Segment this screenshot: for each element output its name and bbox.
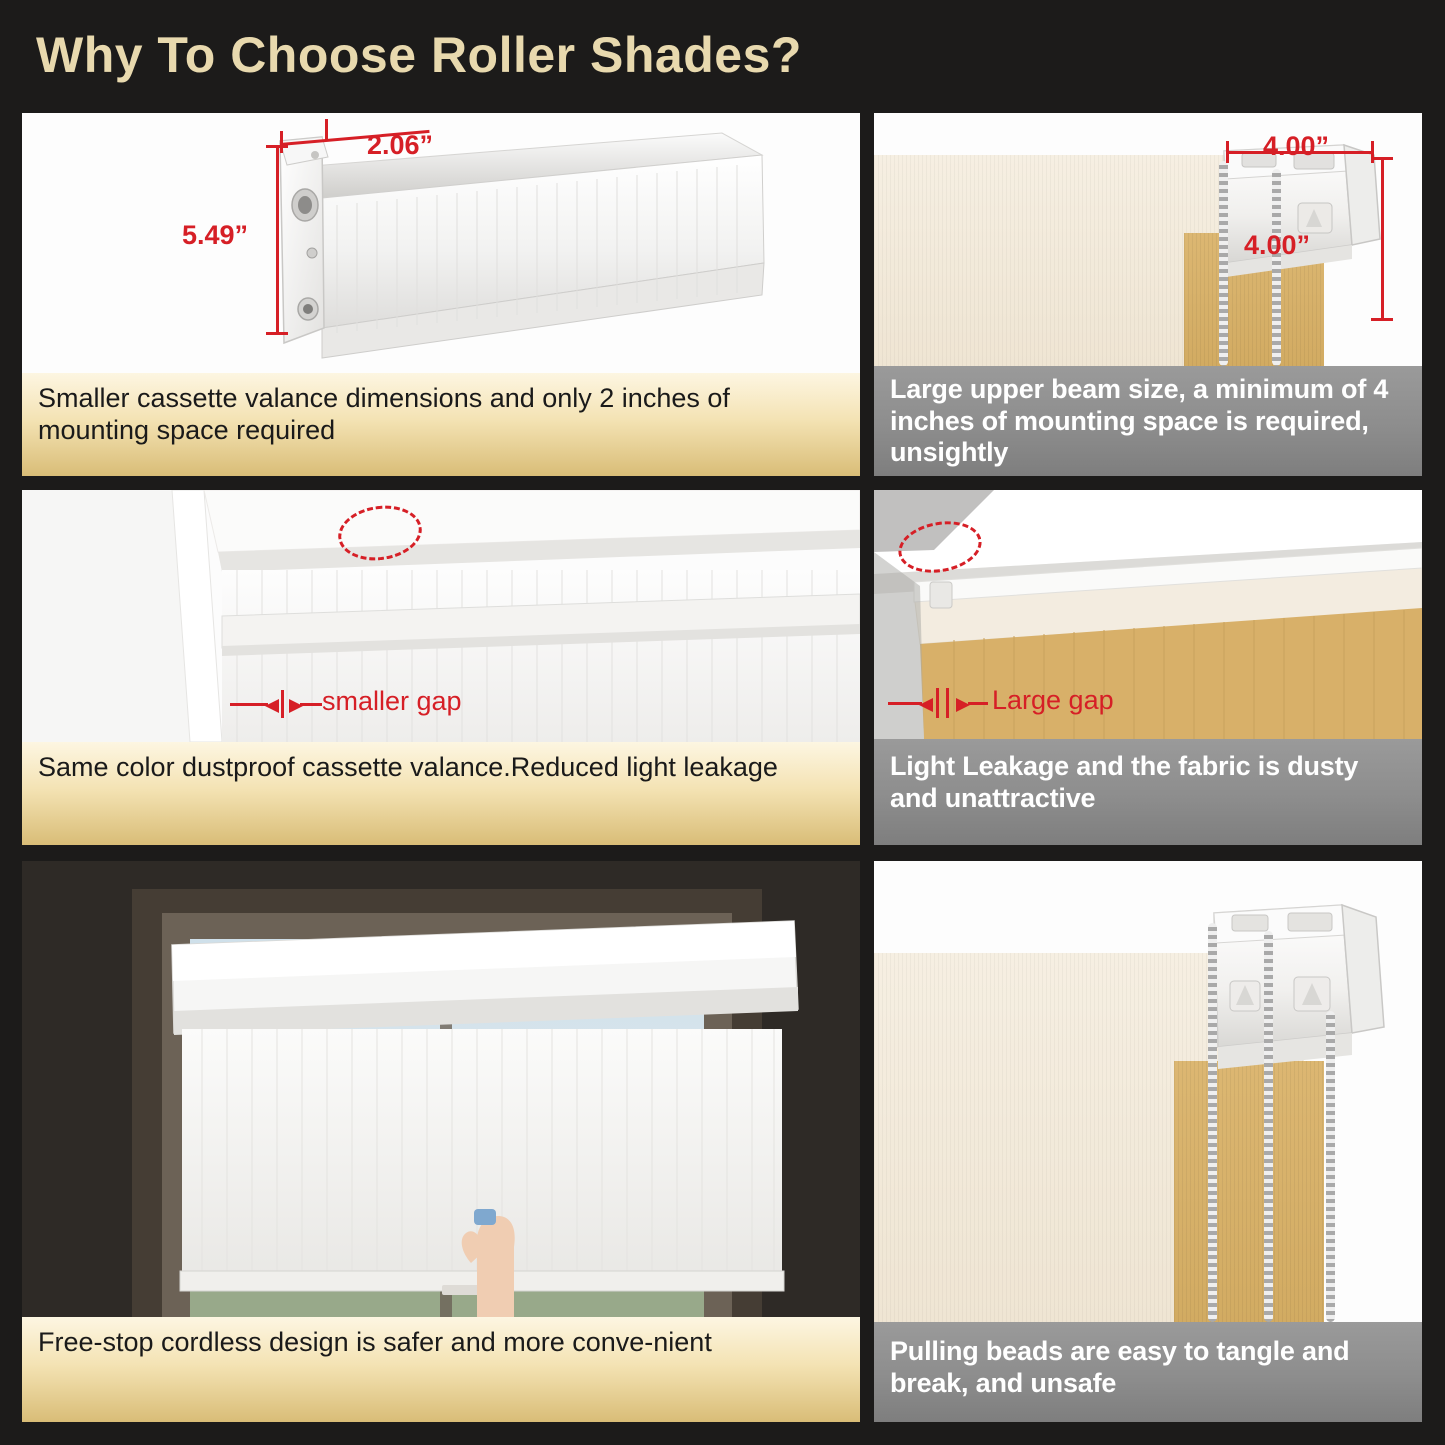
cassette-valance-illustration	[22, 113, 860, 373]
card-1-photo: 2.06” 5.49”	[22, 113, 860, 373]
gap-measure-bar-b	[946, 688, 949, 718]
height-dimension-line	[276, 145, 279, 335]
page-title: Why To Choose Roller Shades?	[36, 26, 802, 84]
smaller-gap-label: smaller gap	[322, 686, 462, 717]
card-cassette-valance-dimensions: 2.06” 5.49” Smaller cassette valance dim…	[22, 113, 860, 476]
card-2-photo: 4.00” 4.00”	[874, 113, 1422, 366]
height-dimension-tick-bottom	[266, 332, 288, 335]
gap-arrow-left-shaft	[230, 703, 268, 706]
beam-width-label: 4.00”	[1263, 131, 1329, 162]
card-1-caption: Smaller cassette valance dimensions and …	[22, 373, 860, 476]
bead-chain-right	[1272, 169, 1281, 366]
gap-arrow-left-shaft	[888, 702, 922, 705]
bead-chain-left	[1208, 923, 1217, 1322]
card-3-caption: Same color dustproof cassette valance.Re…	[22, 742, 860, 845]
bead-chain-right	[1326, 1011, 1335, 1322]
card-5-photo	[22, 861, 860, 1317]
beam-depth-tick-top	[1371, 157, 1393, 160]
card-6-caption: Pulling beads are easy to tangle and bre…	[874, 1322, 1422, 1422]
roller-tube-illustration	[874, 861, 1422, 1322]
height-dimension-label: 5.49”	[182, 220, 248, 251]
product-infographic: Why To Choose Roller Shades?	[0, 0, 1445, 1445]
card-6-photo	[874, 861, 1422, 1322]
large-gap-label: Large gap	[992, 685, 1114, 716]
gap-arrow-left-head	[287, 696, 307, 716]
card-large-upper-beam: 4.00” 4.00” Large upper beam size, a min…	[874, 113, 1422, 476]
card-dustproof-cassette-valance: smaller gap Same color dustproof cassett…	[22, 490, 860, 845]
card-4-caption: Light Leakage and the fabric is dusty an…	[874, 739, 1422, 845]
beam-depth-label: 4.00”	[1244, 230, 1310, 261]
card-pulling-beads: Pulling beads are easy to tangle and bre…	[874, 861, 1422, 1422]
card-2-caption: Large upper beam size, a minimum of 4 in…	[874, 366, 1422, 476]
room-window-photo	[22, 861, 860, 1317]
card-4-photo: Large gap	[874, 490, 1422, 739]
bead-chain-middle	[1264, 931, 1273, 1322]
gap-arrow-left-head	[954, 695, 974, 715]
width-dimension-tick-right	[325, 119, 328, 141]
height-dimension-tick-top	[266, 145, 288, 148]
gap-measure-bar-a	[936, 688, 939, 718]
bead-chain-left	[1219, 161, 1228, 366]
card-5-caption: Free-stop cordless design is safer and m…	[22, 1317, 860, 1422]
width-dimension-tick-left	[280, 131, 283, 153]
beam-width-tick-left	[1226, 141, 1229, 163]
card-3-photo: smaller gap	[22, 490, 860, 742]
card-light-leakage: Large gap Light Leakage and the fabric i…	[874, 490, 1422, 845]
card-cordless-design: Free-stop cordless design is safer and m…	[22, 861, 860, 1422]
gap-measure-bar	[281, 690, 284, 718]
beam-depth-line	[1381, 157, 1384, 321]
gap-arrow-right-shaft	[968, 702, 988, 705]
beam-depth-tick-bottom	[1371, 318, 1393, 321]
gap-arrow-right-shaft	[300, 703, 322, 706]
width-dimension-label: 2.06”	[367, 130, 433, 161]
